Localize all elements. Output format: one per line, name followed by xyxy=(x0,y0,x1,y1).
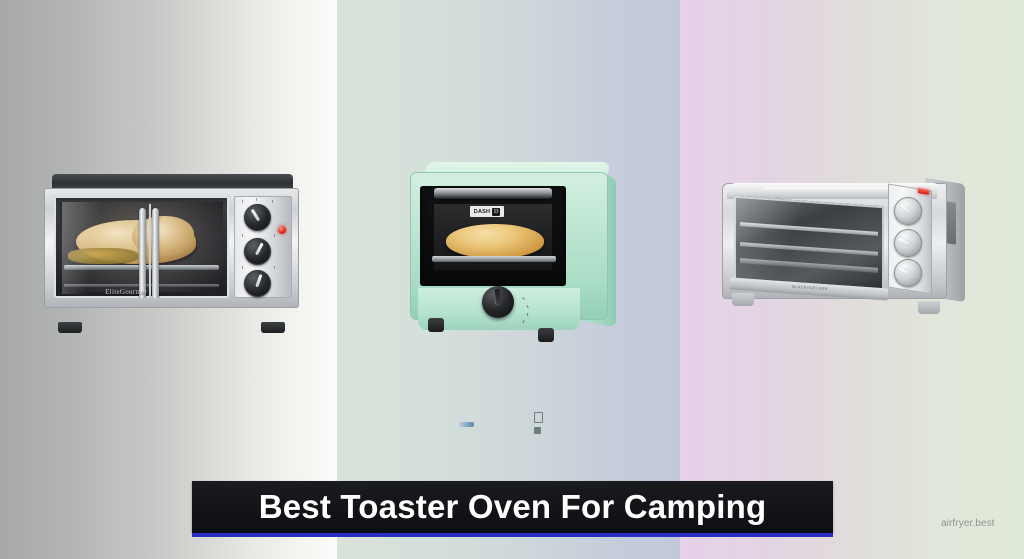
oven-body: EliteGourmet xyxy=(44,188,299,308)
oven-foot-right xyxy=(538,328,554,342)
oven-rack-lower xyxy=(740,258,878,273)
brand-mark-icon: D xyxy=(492,208,500,216)
knob-pointer-icon xyxy=(898,237,910,246)
image-canvas: EliteGourmet xyxy=(0,0,1024,559)
page-title: Best Toaster Oven For Camping xyxy=(259,488,767,526)
roast-vegetables xyxy=(68,248,138,264)
oven-door-window: EliteGourmet xyxy=(54,196,229,298)
power-indicator-light xyxy=(278,226,286,234)
power-indicator-light xyxy=(458,422,474,427)
knob-pointer-icon xyxy=(898,266,910,276)
dial-tick xyxy=(274,234,275,237)
brand-badge-label: DASH xyxy=(474,209,490,215)
dial-tick xyxy=(242,266,243,269)
knob-pointer-icon xyxy=(255,243,264,256)
timer-knob[interactable] xyxy=(894,259,922,287)
baking-tray xyxy=(432,256,556,262)
control-panel[interactable] xyxy=(234,196,292,298)
dial-tick xyxy=(242,234,243,237)
knob-pointer-icon xyxy=(255,274,262,287)
function-knob[interactable] xyxy=(244,238,271,265)
product-image-elite-gourmet-oven[interactable]: EliteGourmet xyxy=(44,174,299,324)
dial-tick xyxy=(256,198,257,201)
title-banner: Best Toaster Oven For Camping xyxy=(192,481,833,533)
knob-pointer-icon xyxy=(251,209,260,222)
bread-loaf xyxy=(446,224,544,258)
oven-door-window xyxy=(734,196,884,290)
french-door-handles[interactable] xyxy=(137,208,163,298)
door-handle-left[interactable] xyxy=(139,208,146,298)
oven-top-highlight xyxy=(761,187,892,193)
dial-tick xyxy=(242,200,243,203)
function-knob[interactable] xyxy=(894,229,922,257)
oven-foot-left xyxy=(428,318,444,332)
dial-tick xyxy=(272,200,273,203)
oven-foot-right xyxy=(918,301,940,314)
oven-foot-right xyxy=(261,322,285,333)
temperature-knob[interactable] xyxy=(894,197,922,225)
bake-mode-icon xyxy=(534,427,541,434)
product-image-stainless-toaster-oven[interactable]: BLACK+DECKER xyxy=(722,175,965,317)
toast-mode-icon xyxy=(534,412,543,423)
oven-rack-upper xyxy=(740,222,878,236)
timer-knob[interactable] xyxy=(244,270,271,297)
heating-element-bar xyxy=(434,188,552,199)
oven-foot-left xyxy=(732,293,754,306)
glass-reflection xyxy=(734,196,800,285)
temperature-knob[interactable] xyxy=(244,204,271,231)
door-handle-right[interactable] xyxy=(152,208,159,298)
oven-cavity: DASH D xyxy=(420,186,566,286)
brand-logo-elite-gourmet: EliteGourmet xyxy=(94,288,158,297)
oven-rack-middle xyxy=(740,242,878,256)
site-watermark: airfryer.best xyxy=(941,518,995,529)
product-image-dash-mini-oven[interactable]: DASH D xyxy=(404,162,624,357)
oven-foot-left xyxy=(58,322,82,333)
brand-badge-dash: DASH D xyxy=(470,206,504,217)
dial-tick xyxy=(274,266,275,269)
knob-pointer-icon xyxy=(494,289,501,306)
title-underline-bar xyxy=(192,533,833,537)
timer-knob[interactable] xyxy=(482,286,514,318)
knob-pointer-icon xyxy=(899,203,910,214)
